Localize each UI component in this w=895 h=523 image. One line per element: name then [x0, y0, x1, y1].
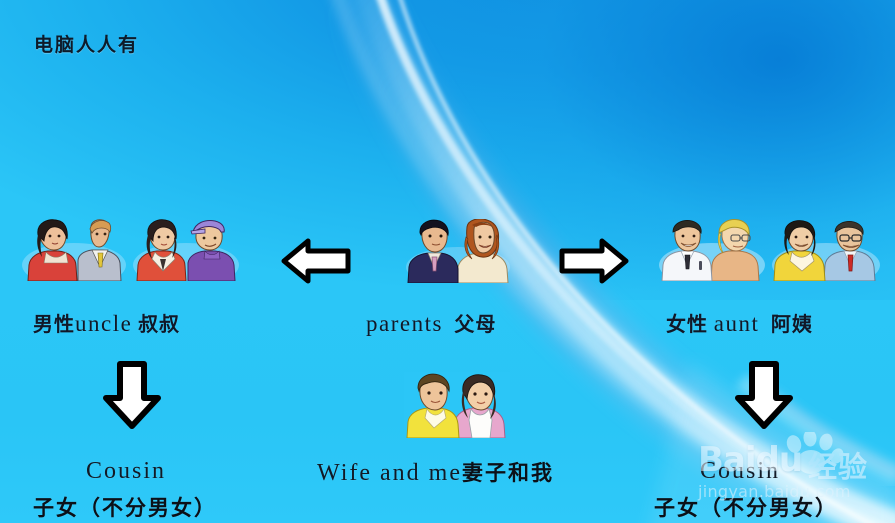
page-title: 电脑人人有	[34, 30, 139, 57]
node-label-cousin-right-en: Cousin	[700, 458, 780, 485]
arrow-down-left-icon	[96, 358, 168, 430]
family-tree-diagram: 电脑人人有	[0, 0, 895, 523]
node-label-uncle-cn-suffix: 叔叔	[138, 312, 180, 336]
node-label-wife-and-me-cn: 妻子和我	[462, 461, 554, 485]
people-image-uncle-pair-2	[133, 219, 239, 281]
people-image-parents	[404, 219, 512, 283]
node-label-wife-and-me: Wife and me妻子和我	[317, 457, 554, 487]
arrow-down-right-icon	[728, 358, 800, 430]
people-image-aunt-pair-1	[659, 219, 765, 281]
node-label-cousin-right-cn: 子女（不分男女）	[654, 492, 838, 522]
node-label-aunt-cn-suffix: 阿姨	[771, 312, 813, 336]
node-label-aunt: 女性 aunt 阿姨	[666, 308, 813, 337]
node-label-uncle: 男性uncle 叔叔	[33, 308, 180, 337]
node-label-wife-and-me-en: Wife and me	[317, 460, 462, 486]
arrow-left-icon	[280, 235, 352, 287]
node-label-uncle-en: uncle	[75, 311, 132, 336]
node-label-cousin-left-cn: 子女（不分男女）	[33, 492, 217, 522]
node-label-parents: parents 父母	[366, 308, 496, 337]
people-image-wife-and-me	[404, 372, 510, 438]
arrow-right-icon	[558, 235, 630, 287]
node-label-aunt-cn-prefix: 女性	[666, 312, 708, 336]
node-label-parents-cn: 父母	[454, 312, 496, 336]
node-label-uncle-cn-prefix: 男性	[33, 312, 75, 336]
node-label-aunt-en: aunt	[714, 311, 760, 336]
people-image-aunt-pair-2	[772, 219, 880, 281]
node-label-cousin-left-en: Cousin	[86, 458, 166, 485]
people-image-uncle-pair-1	[22, 219, 126, 281]
node-label-parents-en: parents	[366, 311, 443, 336]
